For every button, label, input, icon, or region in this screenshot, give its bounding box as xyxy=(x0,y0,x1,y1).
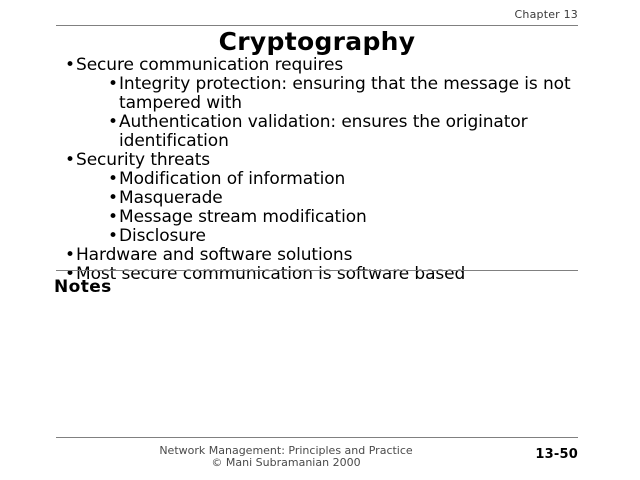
bullet-dot-icon: • xyxy=(108,113,118,132)
bullet-item: •Hardware and software solutions xyxy=(56,246,640,265)
footer-credit: Network Management: Principles and Pract… xyxy=(56,445,516,469)
footer-divider xyxy=(56,437,578,438)
chapter-label: Chapter 13 xyxy=(56,8,578,21)
bullet-item: •Secure communication requires xyxy=(56,56,640,75)
bullet-text: Authentication validation: ensures the o… xyxy=(119,113,640,151)
bullet-item: •Masquerade xyxy=(56,189,640,208)
bullet-text: Modification of information xyxy=(119,170,640,189)
bullet-item: •Disclosure xyxy=(56,227,640,246)
bullet-item: •Modification of information xyxy=(56,170,640,189)
footer-copyright-line: © Mani Subramanian 2000 xyxy=(56,457,516,469)
bullet-item: •Authentication validation: ensures the … xyxy=(56,113,640,151)
bullet-text: Hardware and software solutions xyxy=(76,246,640,265)
page-number: 13-50 xyxy=(520,447,578,462)
bullet-text: Message stream modification xyxy=(119,208,640,227)
bullet-item: •Integrity protection: ensuring that the… xyxy=(56,75,640,113)
bullet-text: Security threats xyxy=(76,151,640,170)
notes-heading: Notes xyxy=(54,277,112,297)
bullet-dot-icon: • xyxy=(108,189,118,208)
header-divider xyxy=(56,25,578,26)
notes-body[interactable] xyxy=(56,300,578,430)
bullet-text: Disclosure xyxy=(119,227,640,246)
bullet-dot-icon: • xyxy=(108,75,118,94)
notes-divider xyxy=(56,270,578,271)
bullet-text: Secure communication requires xyxy=(76,56,640,75)
bullet-item: •Security threats xyxy=(56,151,640,170)
bullet-dot-icon: • xyxy=(65,151,75,170)
bullet-text: Masquerade xyxy=(119,189,640,208)
page-title: Cryptography xyxy=(56,29,578,55)
bullet-text: Integrity protection: ensuring that the … xyxy=(119,75,640,113)
bullet-dot-icon: • xyxy=(108,170,118,189)
bullet-dot-icon: • xyxy=(65,56,75,75)
bullet-dot-icon: • xyxy=(108,227,118,246)
bullet-item: •Message stream modification xyxy=(56,208,640,227)
bullet-item: •Most secure communication is software b… xyxy=(56,265,640,284)
bullet-dot-icon: • xyxy=(108,208,118,227)
slide-page: Chapter 13 Cryptography •Secure communic… xyxy=(0,0,640,480)
bullet-text: Most secure communication is software ba… xyxy=(76,265,640,284)
bullet-list: •Secure communication requires•Integrity… xyxy=(56,56,640,284)
bullet-dot-icon: • xyxy=(65,246,75,265)
